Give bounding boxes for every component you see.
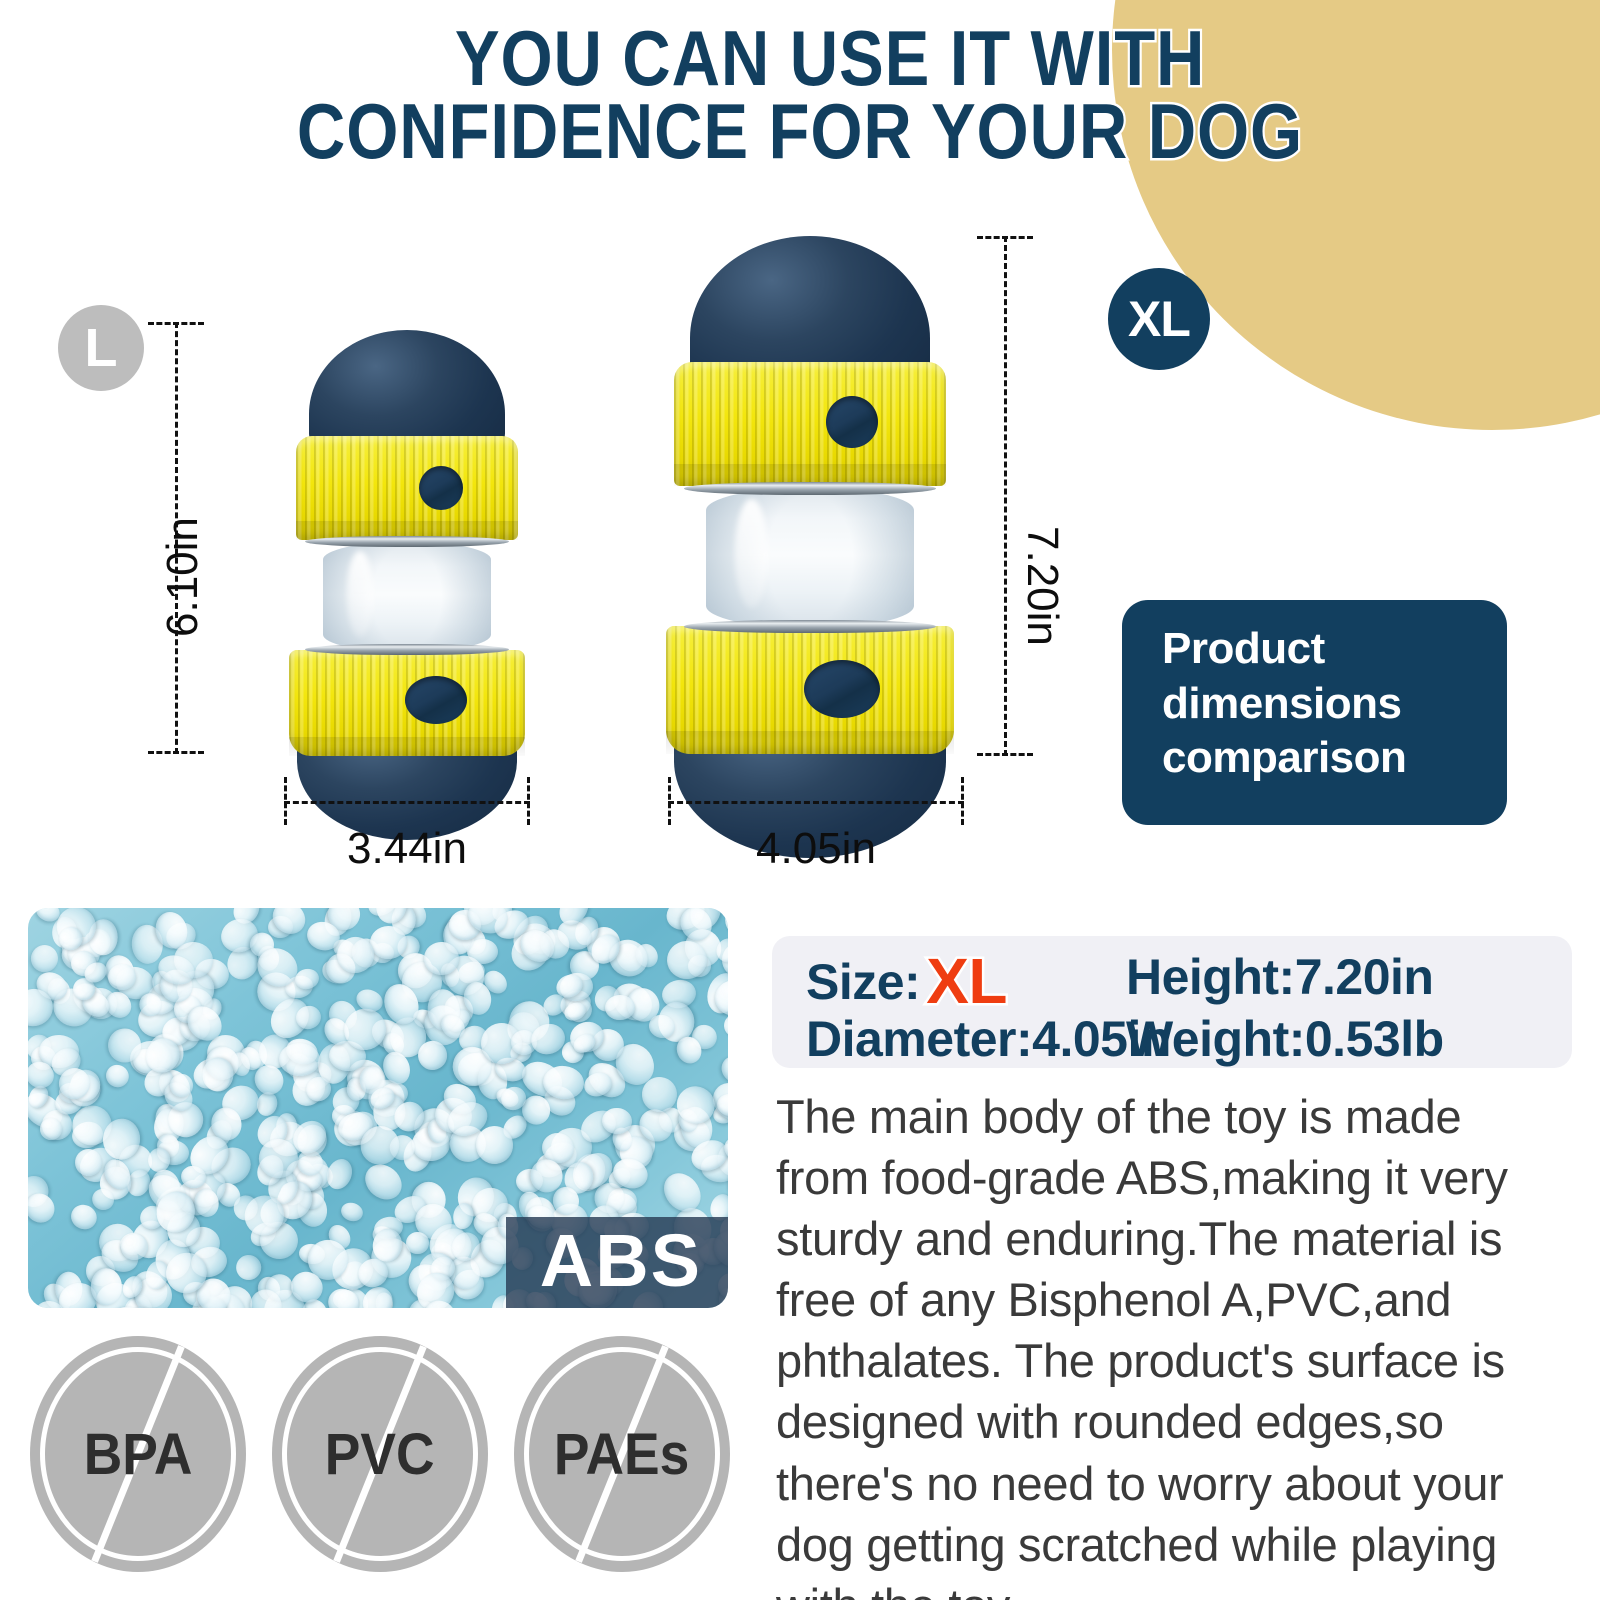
free-of-badge-bpa: BPA	[30, 1336, 246, 1572]
spec-size-value: XL	[926, 945, 1007, 1017]
free-of-badge-pvc: PVC	[272, 1336, 488, 1572]
size-badge-xl-label: XL	[1128, 290, 1190, 348]
dimension-line	[1004, 236, 1007, 756]
spec-row-diameter-weight: Diameter:4.05in Weight:0.53lb	[806, 1010, 1572, 1068]
infographic-canvas: YOU CAN USE IT WITH CONFIDENCE FOR YOUR …	[0, 0, 1600, 1600]
free-of-badges: BPA PVC PAEs	[30, 1336, 730, 1576]
dimension-cap-bottom	[148, 751, 204, 754]
toy-ring-lower	[305, 644, 509, 655]
dimensions-comparison-label: Product dimensions comparison	[1162, 622, 1507, 786]
height-small-label: 6.10in	[158, 517, 208, 637]
pellet	[202, 1057, 234, 1092]
free-of-badge-label: BPA	[84, 1421, 193, 1488]
toy-ring-upper	[305, 536, 509, 547]
material-description: The main body of the toy is made from fo…	[776, 1086, 1566, 1600]
pellet	[339, 1200, 366, 1224]
width-dimension-small: 3.44in	[284, 798, 530, 804]
pellet	[605, 995, 635, 1020]
abs-material-label: ABS	[540, 1223, 702, 1298]
toy-collar-top	[674, 362, 946, 486]
spec-diameter: Diameter:4.05in	[806, 1010, 1126, 1068]
toy-dispense-hole-top	[419, 466, 463, 510]
pellet	[717, 1052, 728, 1086]
pellet	[102, 1060, 133, 1091]
dimensions-comparison-callout: Product dimensions comparison	[1122, 600, 1507, 825]
spec-size: Size:XL	[806, 940, 1126, 1014]
toy-clear-chamber	[323, 542, 491, 652]
product-spec-box: Size:XL Height:7.20in Diameter:4.05in We…	[772, 936, 1572, 1068]
size-badge-l: L	[58, 305, 144, 391]
spec-height: Height:7.20in	[1126, 948, 1433, 1006]
width-small-label: 3.44in	[284, 824, 530, 874]
dimension-cap-right	[527, 777, 530, 825]
dimension-cap-top	[148, 322, 204, 325]
width-dimension-large: 4.05in	[668, 798, 964, 804]
toy-dispense-hole-bottom	[804, 660, 880, 718]
dimension-cap-bottom	[977, 753, 1033, 756]
pellet	[405, 1231, 429, 1254]
toy-dispense-hole-bottom	[405, 676, 467, 724]
dimension-cap-top	[977, 236, 1033, 239]
size-badge-l-label: L	[85, 317, 118, 379]
free-of-badge-paes: PAEs	[514, 1336, 730, 1572]
width-large-label: 4.05in	[668, 824, 964, 874]
size-badge-xl: XL	[1108, 268, 1210, 370]
toy-dispense-hole-top	[826, 396, 878, 448]
toy-collar-top	[296, 436, 518, 540]
tan-accent-circle	[1112, 0, 1600, 430]
dimension-cap-left	[284, 777, 287, 825]
height-large-label: 7.20in	[1017, 526, 1067, 646]
toy-clear-chamber	[706, 488, 914, 628]
pellet	[233, 1251, 264, 1282]
spec-weight: Weight:0.53lb	[1126, 1010, 1444, 1068]
dimension-line	[668, 801, 964, 804]
free-of-badge-label: PAEs	[554, 1421, 689, 1488]
spec-row-size-height: Size:XL Height:7.20in	[806, 944, 1572, 1010]
dimension-line	[284, 801, 530, 804]
pellet	[28, 1188, 60, 1229]
abs-material-badge: ABS	[506, 1217, 728, 1308]
dimension-cap-left	[668, 777, 671, 825]
dimension-cap-right	[961, 777, 964, 825]
abs-pellets-photo: ABS	[28, 908, 728, 1308]
toy-ring-upper	[684, 482, 936, 495]
toy-ring-lower	[684, 620, 936, 633]
free-of-badge-label: PVC	[325, 1421, 435, 1488]
spec-size-label: Size:	[806, 954, 920, 1010]
product-toy-size-l	[283, 330, 531, 750]
product-toy-size-xl	[660, 236, 960, 756]
